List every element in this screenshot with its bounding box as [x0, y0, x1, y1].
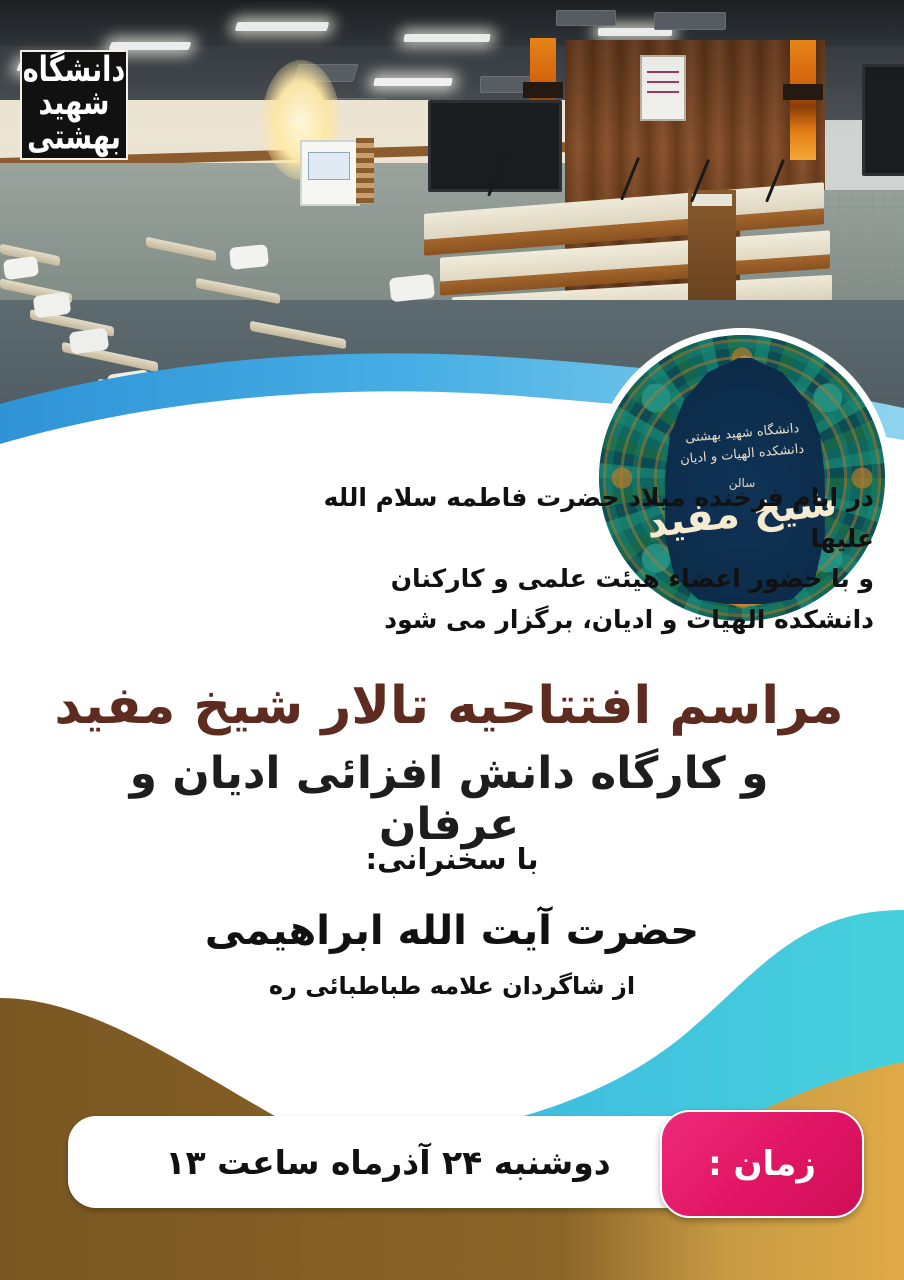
event-date-pill: دوشنبه ۲۴ آذرماه ساعت ۱۳ — [68, 1116, 708, 1208]
time-bar: دوشنبه ۲۴ آذرماه ساعت ۱۳ زمان : — [0, 1110, 904, 1220]
speaker-subtitle: از شاگردان علامه طباطبائی ره — [0, 972, 904, 1000]
event-title-secondary: و کارگاه دانش افزائی ادیان و عرفان — [54, 748, 844, 850]
speaker-name: حضرت آیت الله ابراهیمی — [0, 908, 904, 954]
medallion-university: دانشگاه شهید بهشتی — [684, 421, 799, 446]
medallion-faculty: دانشکده الهیات و ادیان — [679, 442, 804, 468]
intro-text: در ایام فرخنده میلاد حضرت فاطمه سلام الل… — [314, 478, 874, 640]
university-logo-text: دانشگاهشهیدبهشتی — [23, 54, 126, 156]
time-label-badge: زمان : — [660, 1110, 864, 1218]
time-label-text: زمان : — [708, 1144, 816, 1184]
intro-line-1: در ایام فرخنده میلاد حضرت فاطمه سلام الل… — [314, 478, 874, 559]
intro-line-3: دانشکده الهیات و ادیان، برگزار می شود — [314, 600, 874, 641]
speaker-label: با سخنرانی: — [0, 842, 904, 876]
university-logo: دانشگاهشهیدبهشتی — [22, 52, 126, 158]
event-poster: دانشگاهشهیدبهشتی دانشگاه شهید بهشتی دانش… — [0, 0, 904, 1280]
intro-line-2: و با حضور اعضاء هیئت علمی و کارکنان — [314, 559, 874, 600]
event-date-value: دوشنبه ۲۴ آذرماه ساعت ۱۳ — [165, 1143, 610, 1182]
event-title-primary: مراسم افتتاحیه تالار شیخ مفید — [54, 676, 844, 736]
